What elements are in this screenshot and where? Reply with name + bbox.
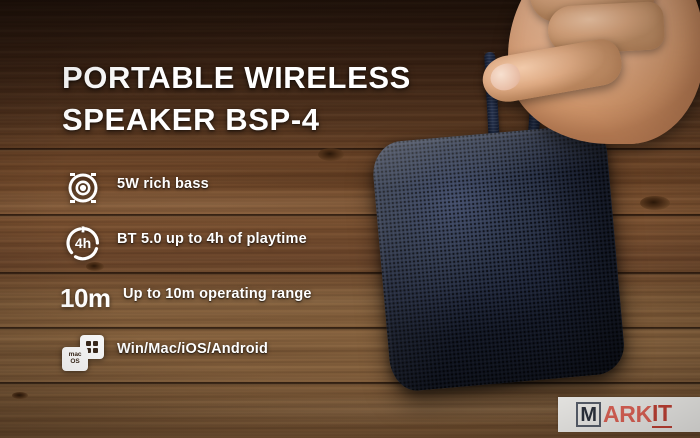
wood-knot [318,148,344,161]
plank-seam [0,214,700,217]
os-compatibility-icon: mac OS [60,331,106,375]
logo-boxed-letter: M [576,402,601,427]
headline-line-2: SPEAKER BSP-4 [62,99,411,141]
range-icon-value: 10m [60,285,111,311]
battery-timer-icon: 4h [60,221,106,265]
feature-label-range: Up to 10m operating range [123,286,312,302]
feature-label-battery: BT 5.0 up to 4h of playtime [117,231,307,247]
svg-text:4h: 4h [75,235,91,251]
feature-label-compatibility: Win/Mac/iOS/Android [117,341,268,357]
macos-icon: mac OS [62,347,88,371]
macos-icon-line-2: OS [70,359,79,366]
page-title: PORTABLE WIRELESS SPEAKER BSP-4 [62,57,411,141]
logo-text-end: IT [652,402,672,428]
plank-seam [0,382,700,385]
speaker-driver-icon [60,166,106,210]
headline-line-1: PORTABLE WIRELESS [62,57,411,99]
wood-knot [12,392,28,399]
logo-text-mid: ARK [603,403,652,426]
plank-seam [0,148,700,151]
plank-seam [0,327,700,330]
brand-logo: M ARK IT [576,401,672,428]
wood-knot [640,196,670,210]
range-text-icon: 10m [60,276,106,320]
plank-seam [0,272,700,275]
feature-label-bass: 5W rich bass [117,176,209,192]
product-advertisement: PORTABLE WIRELESS SPEAKER BSP-4 5W rich … [0,0,700,438]
